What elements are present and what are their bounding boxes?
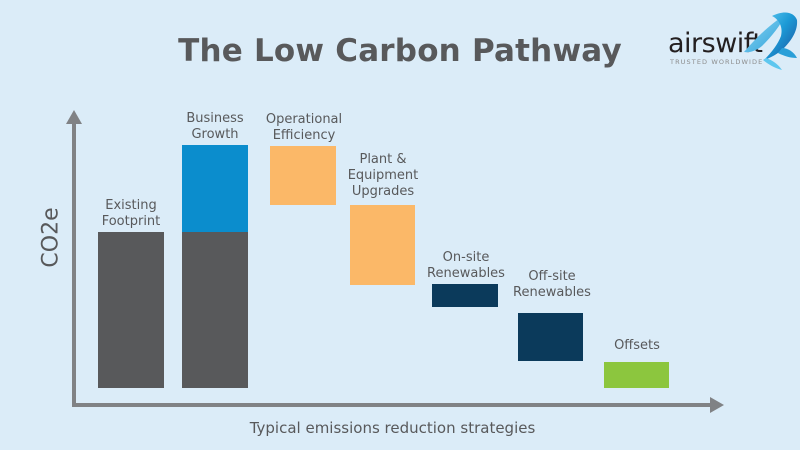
bar-off-site-renewables [518,313,583,361]
bar-label-off-site-renewables: Off-site Renewables [508,269,596,301]
slide-canvas: The Low Carbon Pathway airswift TRUSTED … [0,0,800,450]
bar-on-site-renewables [432,284,498,307]
bar-label-plant-equipment-upgrades: Plant & Equipment Upgrades [340,152,426,200]
x-axis-label: Typical emissions reduction strategies [72,419,713,437]
bar-business-growth-base [182,232,248,388]
y-axis-arrow-icon [66,110,82,124]
bar-label-existing-footprint: Existing Footprint [88,198,174,230]
airswift-logo: airswift TRUSTED WORLDWIDE [660,8,796,80]
bar-label-offsets: Offsets [594,338,680,354]
swift-bird-icon [742,8,798,72]
y-axis-label: CO2e [39,183,64,293]
bar-label-operational-efficiency: Operational Efficiency [258,112,350,144]
bar-offsets [604,362,669,388]
bar-operational-efficiency [270,146,336,205]
bar-label-on-site-renewables: On-site Renewables [422,250,510,282]
bar-plant-equipment-upgrades [350,205,415,285]
y-axis-line [72,122,76,406]
bar-existing-footprint [98,232,164,388]
x-axis-line [72,403,713,407]
bar-business-growth [182,145,248,232]
bar-label-business-growth: Business Growth [172,111,258,143]
x-axis-arrow-icon [710,397,724,413]
